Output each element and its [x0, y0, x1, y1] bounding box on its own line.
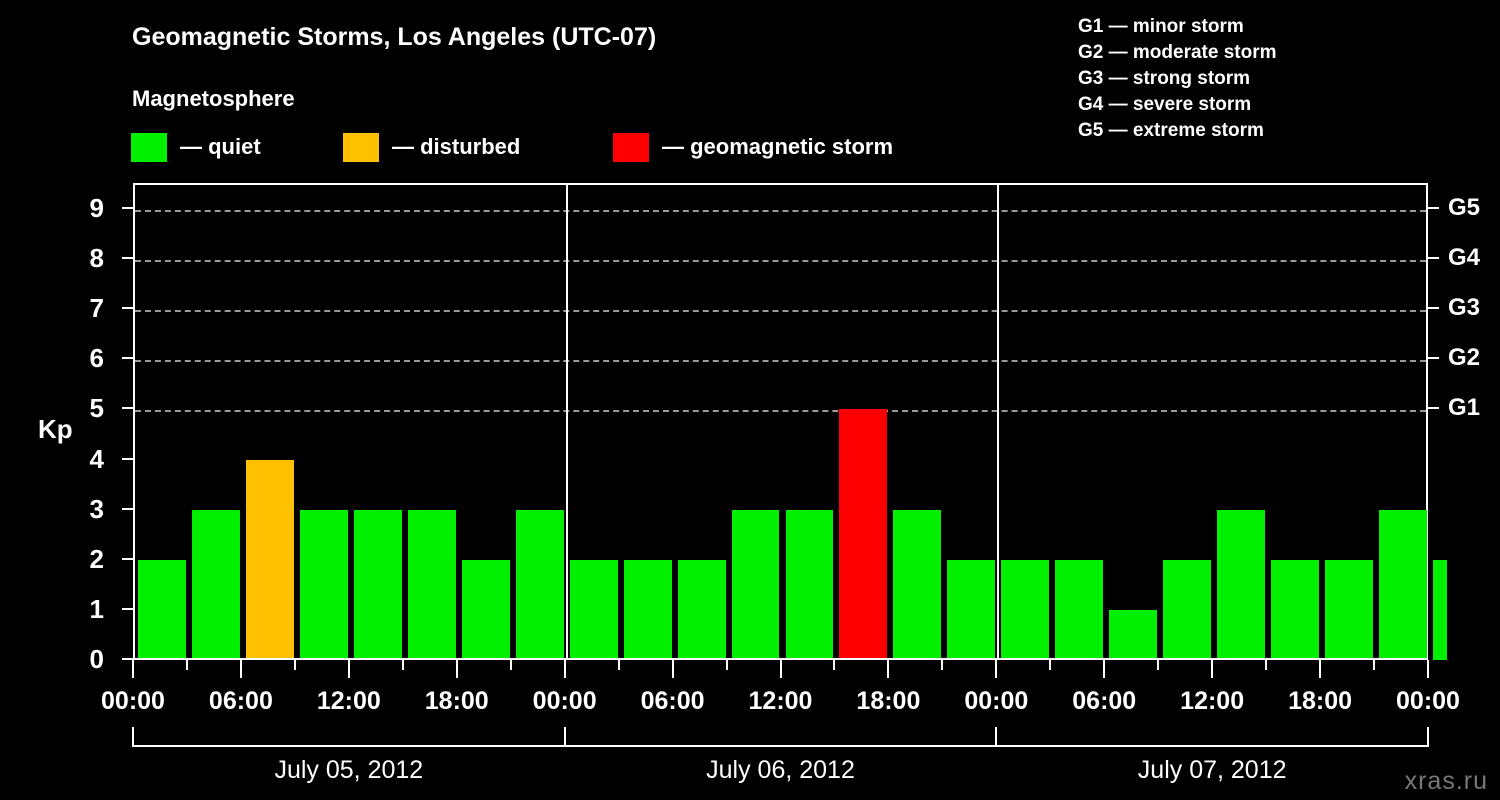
y-tick-mark-5: [122, 407, 133, 409]
y-tick-label-3: 3: [60, 496, 104, 522]
x-tick-label-9: 06:00: [1044, 687, 1164, 716]
x-tick-major-16: [995, 660, 997, 678]
x-tick-minor-5: [402, 660, 404, 670]
bars-layer: [135, 185, 1426, 660]
x-tick-major-2: [240, 660, 242, 678]
y-tick-label-0: 0: [60, 646, 104, 672]
x-tick-major-8: [564, 660, 566, 678]
x-tick-major-12: [780, 660, 782, 678]
y-tick-mark-4: [122, 458, 133, 460]
bar-1: [192, 510, 240, 660]
x-tick-minor-13: [833, 660, 835, 670]
y-tick-mark-1: [122, 608, 133, 610]
legend-storm-swatch-icon: [613, 133, 649, 162]
day-bracket-tick-3: [1427, 727, 1429, 747]
g-tick-label-G5: G5: [1448, 196, 1480, 220]
bar-16: [1001, 560, 1049, 660]
y-tick-mark-8: [122, 257, 133, 259]
day-label-2: July 06, 2012: [581, 756, 981, 785]
bar-11: [732, 510, 780, 660]
bar-23: [1379, 510, 1427, 660]
legend-quiet-label: — quiet: [180, 134, 261, 160]
bar-21: [1271, 560, 1319, 660]
g-tick-label-G4: G4: [1448, 246, 1480, 270]
bar-4: [354, 510, 402, 660]
y-tick-label-7: 7: [60, 295, 104, 321]
gscale-legend-line-2: G2 — moderate storm: [1078, 40, 1277, 66]
bar-13: [839, 409, 887, 660]
legend-storm: — geomagnetic storm: [613, 130, 893, 164]
x-tick-minor-9: [618, 660, 620, 670]
x-tick-label-10: 12:00: [1152, 687, 1272, 716]
x-tick-major-22: [1319, 660, 1321, 678]
day-bracket-tick-1: [564, 727, 566, 747]
legend-quiet-swatch-icon: [131, 133, 167, 162]
day-label-1: July 05, 2012: [149, 756, 549, 785]
x-tick-minor-11: [726, 660, 728, 670]
g-tick-mark-G5: [1428, 207, 1439, 209]
x-tick-major-18: [1103, 660, 1105, 678]
y-tick-label-6: 6: [60, 345, 104, 371]
day-bracket-tick-0: [132, 727, 134, 747]
day-bracket-baseline: [133, 745, 1428, 747]
x-tick-label-6: 12:00: [721, 687, 841, 716]
x-tick-minor-7: [510, 660, 512, 670]
bar-8: [570, 560, 618, 660]
gscale-legend: G1 — minor stormG2 — moderate stormG3 — …: [1078, 14, 1277, 144]
day-bracket-tick-2: [995, 727, 997, 747]
y-tick-mark-3: [122, 508, 133, 510]
bar-7: [516, 510, 564, 660]
x-tick-minor-23: [1373, 660, 1375, 670]
y-tick-label-4: 4: [60, 446, 104, 472]
y-tick-label-2: 2: [60, 546, 104, 572]
bar-22: [1325, 560, 1373, 660]
watermark: xras.ru: [1405, 767, 1488, 796]
x-tick-label-0: 00:00: [73, 687, 193, 716]
x-tick-major-4: [348, 660, 350, 678]
bar-0: [138, 560, 186, 660]
day-label-3: July 07, 2012: [1012, 756, 1412, 785]
x-tick-label-4: 00:00: [505, 687, 625, 716]
bar-15: [947, 560, 995, 660]
x-tick-major-6: [456, 660, 458, 678]
bar-3: [300, 510, 348, 660]
y-tick-mark-2: [122, 558, 133, 560]
bar-19: [1163, 560, 1211, 660]
legend-quiet: — quiet: [131, 130, 261, 164]
y-tick-mark-9: [122, 207, 133, 209]
bar-24: [1433, 560, 1447, 660]
y-tick-label-8: 8: [60, 245, 104, 271]
gscale-legend-line-1: G1 — minor storm: [1078, 14, 1277, 40]
x-tick-minor-1: [186, 660, 188, 670]
g-tick-mark-G4: [1428, 257, 1439, 259]
g-tick-mark-G1: [1428, 407, 1439, 409]
bar-5: [408, 510, 456, 660]
g-tick-mark-G3: [1428, 307, 1439, 309]
x-tick-major-0: [132, 660, 134, 678]
x-tick-minor-3: [294, 660, 296, 670]
bar-9: [624, 560, 672, 660]
g-tick-label-G2: G2: [1448, 346, 1480, 370]
bar-20: [1217, 510, 1265, 660]
g-tick-label-G3: G3: [1448, 296, 1480, 320]
x-tick-label-7: 18:00: [828, 687, 948, 716]
bar-17: [1055, 560, 1103, 660]
g-tick-mark-G2: [1428, 357, 1439, 359]
y-tick-label-1: 1: [60, 596, 104, 622]
chart-canvas: Geomagnetic Storms, Los Angeles (UTC-07)…: [0, 0, 1500, 800]
legend-disturbed: — disturbed: [343, 130, 520, 164]
bar-2: [246, 460, 294, 660]
bar-12: [786, 510, 834, 660]
x-tick-major-14: [887, 660, 889, 678]
x-tick-label-1: 06:00: [181, 687, 301, 716]
x-tick-label-11: 18:00: [1260, 687, 1380, 716]
x-tick-minor-21: [1265, 660, 1267, 670]
page-title: Geomagnetic Storms, Los Angeles (UTC-07): [132, 23, 656, 52]
gscale-legend-line-5: G5 — extreme storm: [1078, 118, 1277, 144]
x-tick-major-24: [1427, 660, 1429, 678]
bar-10: [678, 560, 726, 660]
x-tick-major-10: [672, 660, 674, 678]
x-tick-major-20: [1211, 660, 1213, 678]
gscale-legend-line-3: G3 — strong storm: [1078, 66, 1277, 92]
x-tick-label-8: 00:00: [936, 687, 1056, 716]
x-tick-minor-17: [1049, 660, 1051, 670]
y-tick-label-9: 9: [60, 195, 104, 221]
x-tick-label-3: 18:00: [397, 687, 517, 716]
g-tick-label-G1: G1: [1448, 396, 1480, 420]
gscale-legend-line-4: G4 — severe storm: [1078, 92, 1277, 118]
bar-14: [893, 510, 941, 660]
y-tick-mark-7: [122, 307, 133, 309]
x-tick-label-12: 00:00: [1368, 687, 1488, 716]
bar-18: [1109, 610, 1157, 660]
x-tick-label-2: 12:00: [289, 687, 409, 716]
legend-disturbed-label: — disturbed: [392, 134, 520, 160]
y-axis-title: Kp: [38, 414, 73, 445]
legend-storm-label: — geomagnetic storm: [662, 134, 893, 160]
y-tick-mark-6: [122, 357, 133, 359]
chart-subtitle: Magnetosphere: [132, 86, 295, 112]
bar-6: [462, 560, 510, 660]
x-tick-minor-15: [941, 660, 943, 670]
plot-area: [133, 183, 1428, 660]
x-tick-label-5: 06:00: [613, 687, 733, 716]
legend-disturbed-swatch-icon: [343, 133, 379, 162]
x-tick-minor-19: [1157, 660, 1159, 670]
